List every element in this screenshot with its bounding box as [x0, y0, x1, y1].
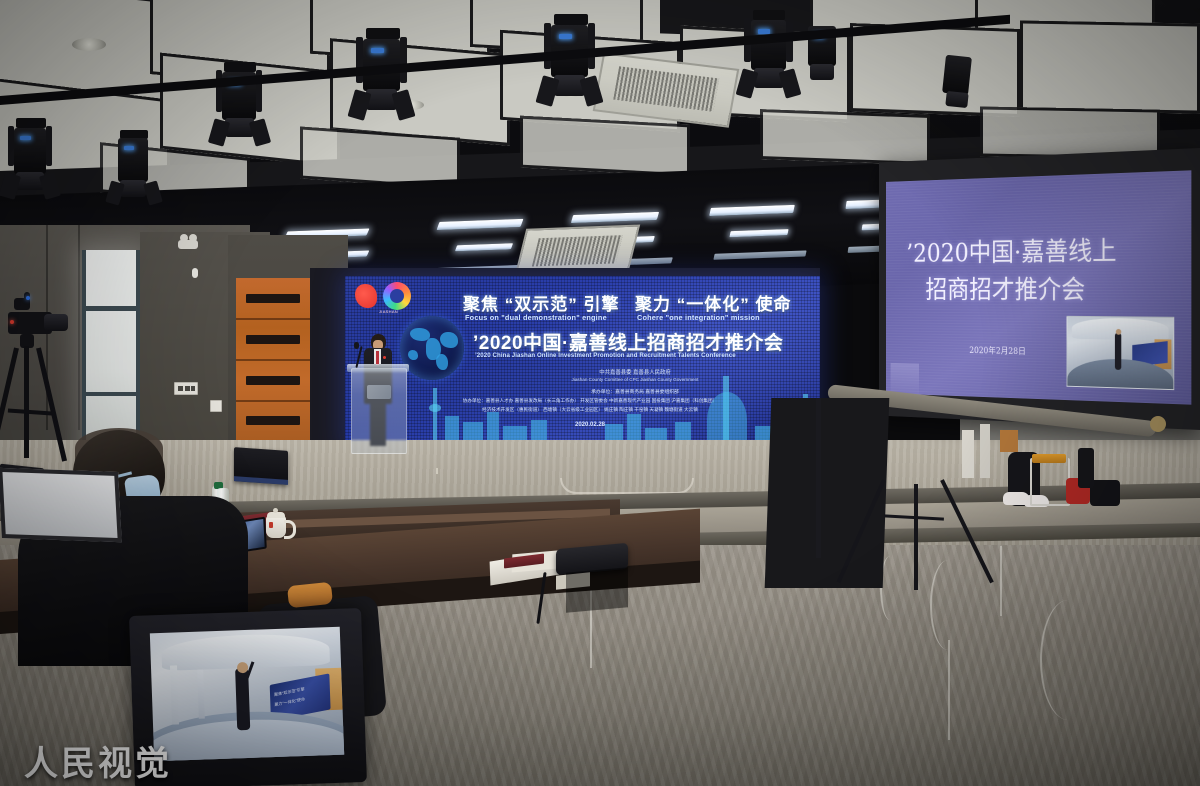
floor-cable	[1040, 600, 1096, 720]
projection-title-line-1: ’2020中国·嘉善线上	[906, 230, 1116, 269]
camera-lens	[44, 314, 68, 331]
stage-moving-head-light	[936, 54, 980, 120]
mug-lid-knob	[273, 508, 278, 513]
wood-panel-door	[236, 278, 310, 443]
camera-tripod-brace	[8, 408, 52, 415]
projection-inset-video	[1067, 316, 1175, 390]
preview-monitor-screen: 聚焦“双示范”引擎 聚力“一体化”使命	[150, 627, 344, 762]
led-host-cn: 中共嘉善县委 嘉善县人民政府	[515, 368, 755, 376]
microphone-head	[354, 342, 359, 349]
jiashan-logo-red	[355, 284, 377, 308]
led-main-title-en: ’2020 China Jiashan Online Investment Pr…	[475, 352, 736, 359]
lapel-pin	[383, 356, 386, 359]
globe-graphic	[400, 316, 464, 380]
stage-cable	[560, 478, 694, 494]
watermark: 人民视觉	[24, 736, 172, 785]
screen-tripod-leg	[914, 484, 918, 590]
stage-pillar	[980, 424, 990, 478]
camera-tripod-leg	[24, 346, 29, 458]
ceiling-downlight	[72, 38, 106, 51]
led-headline-left: 聚焦 “双示范” 引擎	[463, 290, 619, 315]
led-host-en: Jiashan County Comittee of CPC Jiashan C…	[515, 377, 755, 382]
emergency-light-lamp	[180, 234, 188, 242]
slide-skyline	[891, 363, 919, 395]
led-backdrop-screen: JIASHAN 聚焦 “双示范” 引擎 聚力 “一体化” 使命 Focus on…	[345, 276, 820, 448]
studio-column	[170, 666, 179, 725]
device-shadow	[566, 567, 628, 612]
acrylic-lectern	[351, 368, 407, 454]
chair-frame	[1030, 458, 1070, 506]
skyline-tower	[433, 388, 437, 444]
projection-screen-surface: ’2020中国·嘉善线上 招商招才推介会 2020年2月28日	[886, 170, 1191, 404]
projection-date: 2020年2月28日	[969, 344, 1025, 357]
screen-back-panel	[765, 398, 890, 588]
screen-roller-end-cap	[1150, 416, 1166, 432]
wall-switch-plate[interactable]	[174, 382, 198, 395]
stage-moving-head-light	[538, 14, 600, 110]
floor-cable	[1000, 546, 1062, 616]
floor-cable	[930, 560, 966, 650]
led-headline-en-right: Cohere "one integration" mission	[637, 313, 760, 322]
stage-moving-head-light	[738, 10, 798, 102]
stage-moving-head-light	[2, 118, 58, 200]
stage-moving-head-light	[108, 130, 160, 208]
virtual-panel-text-2: 聚力“一体化”使命	[274, 696, 305, 708]
screen-tripod-pole	[816, 398, 821, 558]
camera-tripod-leg	[36, 347, 67, 461]
chair-cushion	[287, 582, 333, 608]
stage-cable	[436, 468, 438, 474]
floor-cable	[948, 640, 980, 740]
equipment-case	[1078, 448, 1094, 488]
emergency-light-lamp	[189, 234, 197, 242]
wood-box	[1000, 430, 1018, 452]
mug-badge	[269, 522, 273, 528]
black-bag	[1090, 480, 1120, 506]
camera-status-light	[26, 296, 30, 300]
projection-title-line-2: 招商招才推介会	[925, 269, 1085, 307]
led-main-title-cn: ’2020中国·嘉善线上招商招才推介会	[473, 328, 783, 355]
jiashan-logo-ring	[383, 282, 411, 310]
portable-projection-screen: ’2020中国·嘉善线上 招商招才推介会 2020年2月28日	[828, 148, 1200, 448]
wall-tag	[192, 268, 198, 278]
logo-label: JIASHAN	[379, 309, 398, 314]
camera-tally-light	[10, 320, 14, 324]
broadcast-camera-rig	[4, 290, 74, 490]
wall-outlet[interactable]	[210, 400, 222, 412]
led-headline-right: 聚力 “一体化” 使命	[635, 290, 791, 315]
stage-pillar	[962, 430, 974, 478]
led-headline-en-left: Focus on "dual demonstration" engine	[465, 313, 607, 322]
conference-hall-photo: JIASHAN 聚焦 “双示范” 引擎 聚力 “一体化” 使命 Focus on…	[0, 0, 1200, 786]
projection-screen-frame: ’2020中国·嘉善线上 招商招才推介会 2020年2月28日	[879, 148, 1200, 430]
skyline-tower	[429, 404, 441, 412]
studio-column	[197, 670, 205, 719]
lectern-logo	[367, 385, 391, 399]
